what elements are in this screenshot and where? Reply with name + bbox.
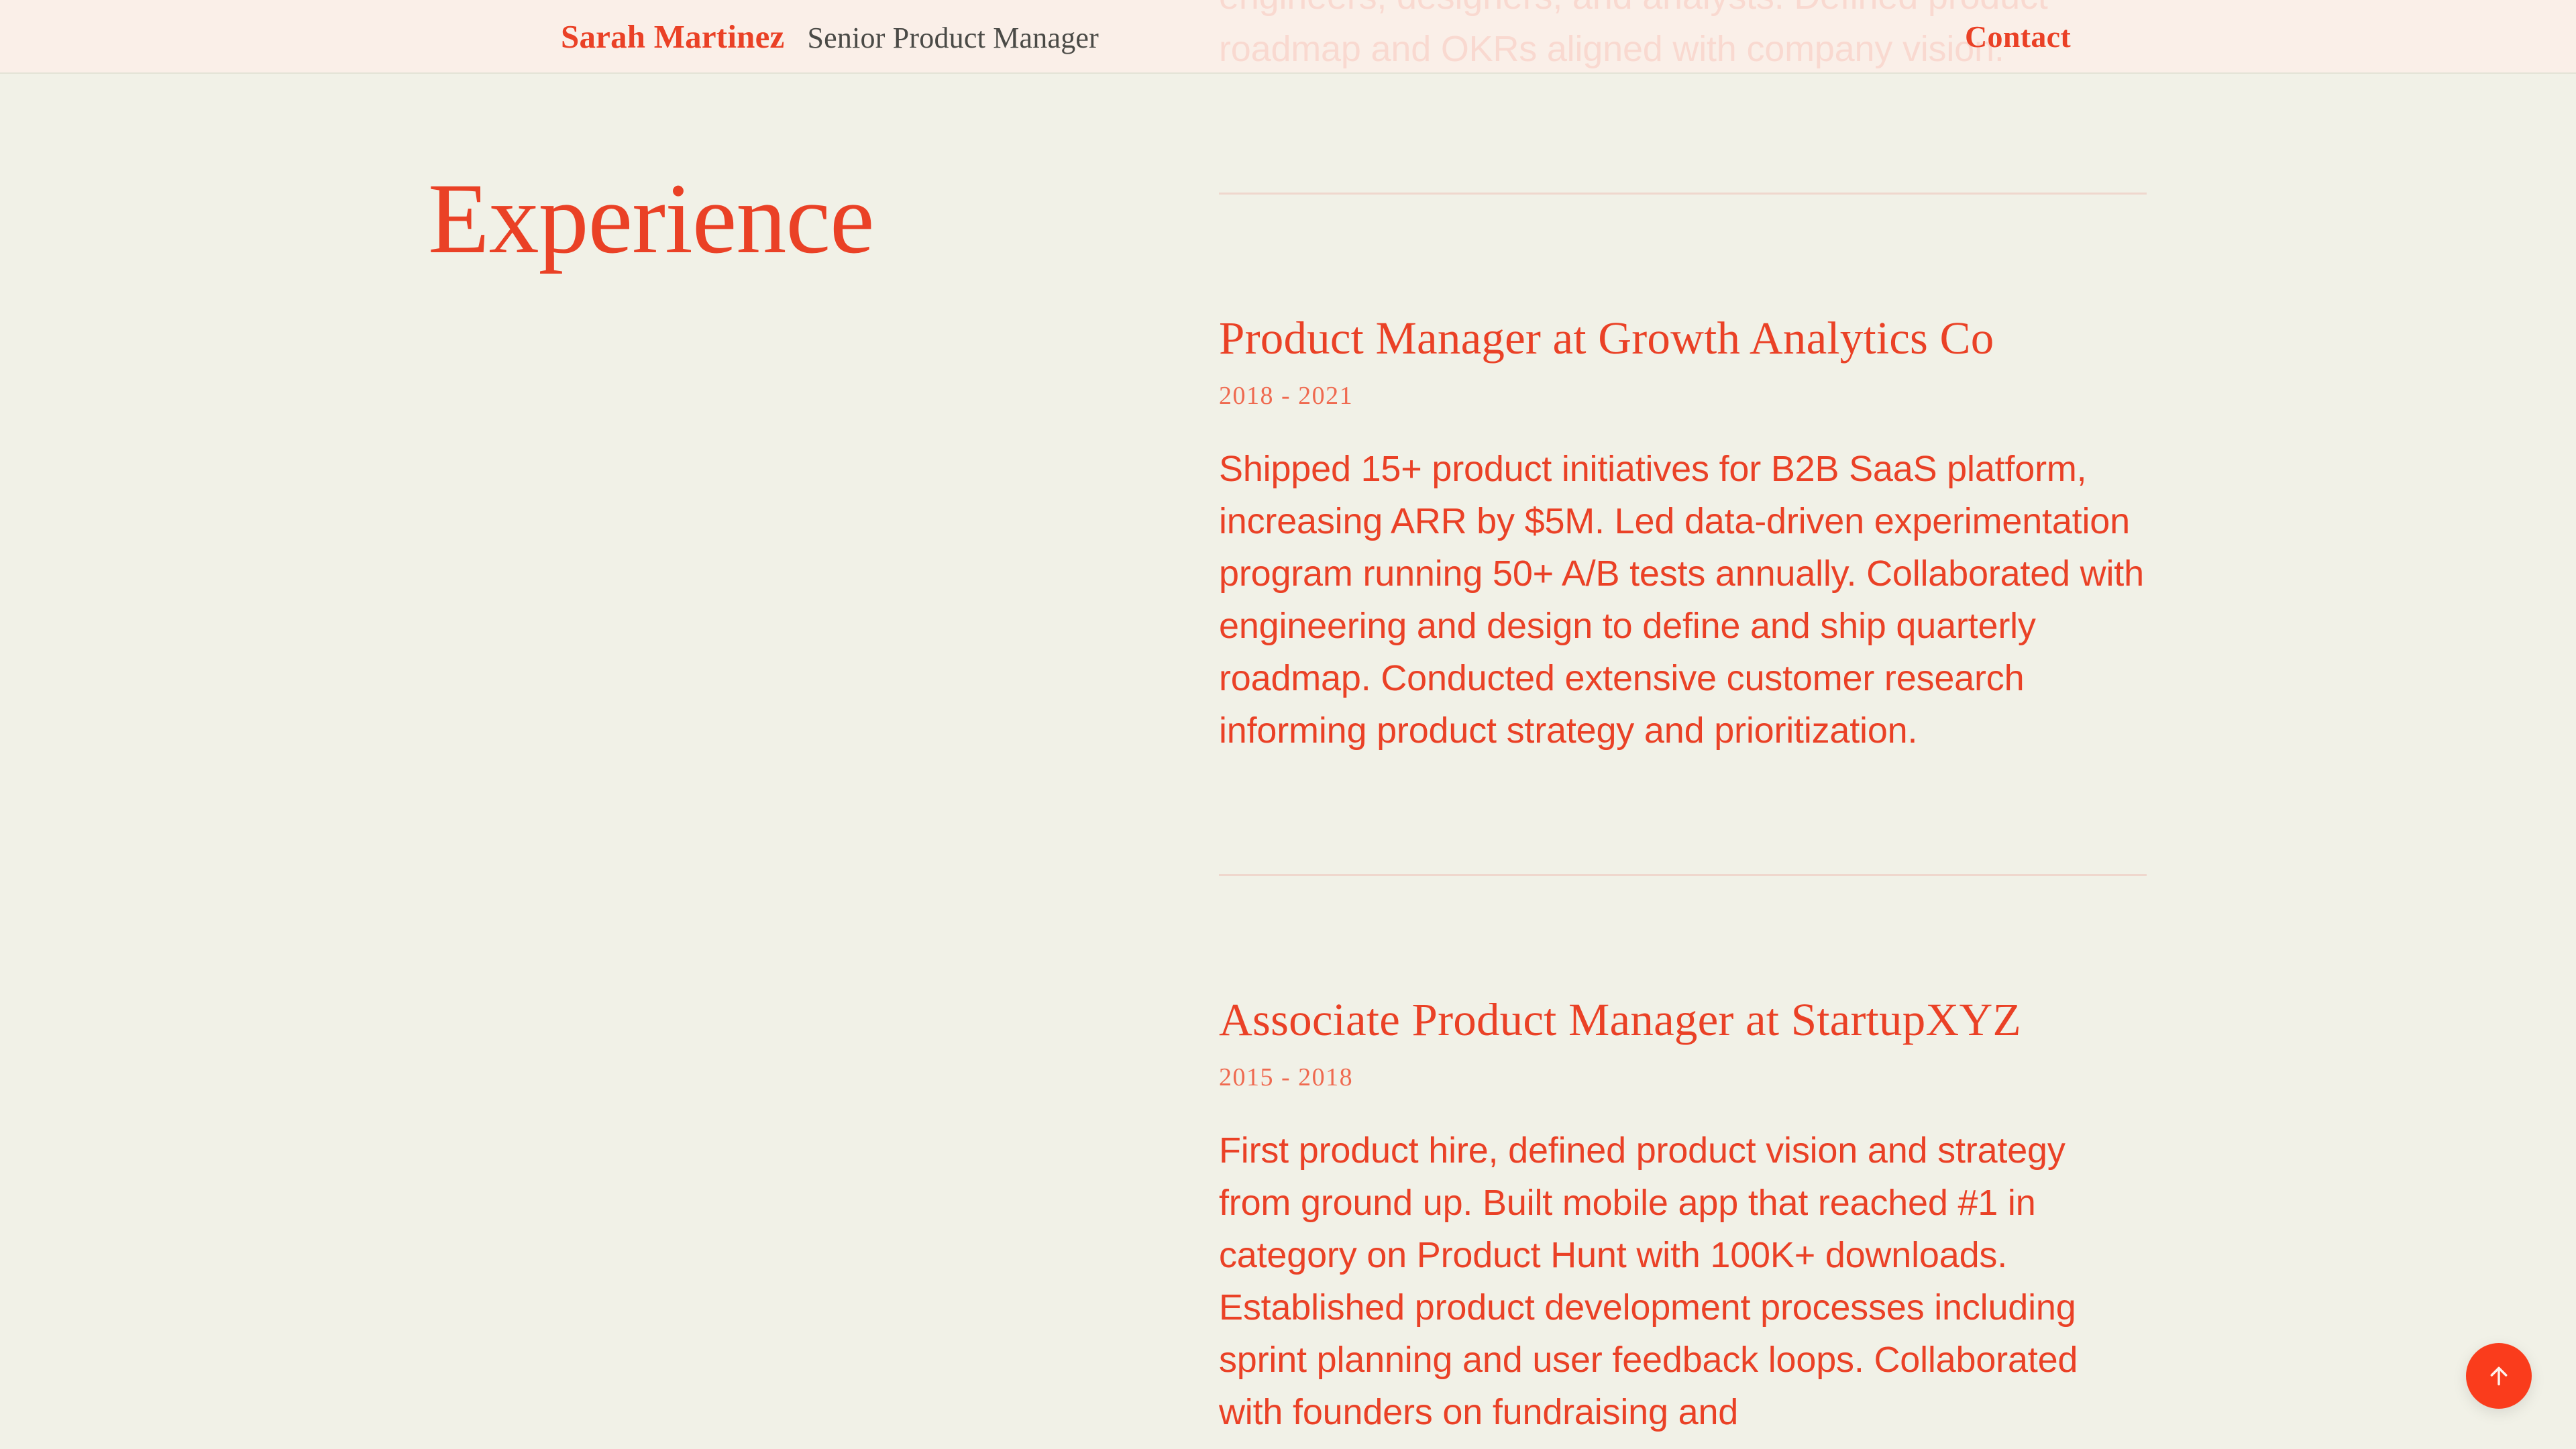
spacer <box>1219 75 2147 193</box>
page-title: Experience <box>428 166 874 272</box>
page-root: Experience engineers, designers, and ana… <box>0 0 2576 1449</box>
primary-nav: Contact <box>1965 19 2071 54</box>
spacer <box>1219 876 2147 994</box>
experience-entry: Associate Product Manager at StartupXYZ … <box>1219 994 2147 1438</box>
spacer <box>1219 757 2147 874</box>
brand-role: Senior Product Manager <box>807 21 1099 55</box>
scroll-to-top-button[interactable] <box>2466 1343 2532 1409</box>
brand[interactable]: Sarah Martinez Senior Product Manager <box>561 17 1099 56</box>
job-description: Shipped 15+ product initiatives for B2B … <box>1219 443 2147 757</box>
job-description: First product hire, defined product visi… <box>1219 1124 2147 1438</box>
job-title: Associate Product Manager at StartupXYZ <box>1219 994 2147 1046</box>
job-dates: 2018 - 2021 <box>1219 381 2147 412</box>
nav-link-contact[interactable]: Contact <box>1965 19 2071 54</box>
site-header: Sarah Martinez Senior Product Manager Co… <box>0 0 2576 74</box>
experience-list: engineers, designers, and analysts. Defi… <box>1219 0 2147 1438</box>
experience-entry: Product Manager at Growth Analytics Co 2… <box>1219 312 2147 757</box>
brand-name[interactable]: Sarah Martinez <box>561 17 784 56</box>
arrow-up-icon <box>2485 1362 2512 1389</box>
job-title: Product Manager at Growth Analytics Co <box>1219 312 2147 365</box>
job-dates: 2015 - 2018 <box>1219 1063 2147 1093</box>
spacer <box>1219 195 2147 312</box>
